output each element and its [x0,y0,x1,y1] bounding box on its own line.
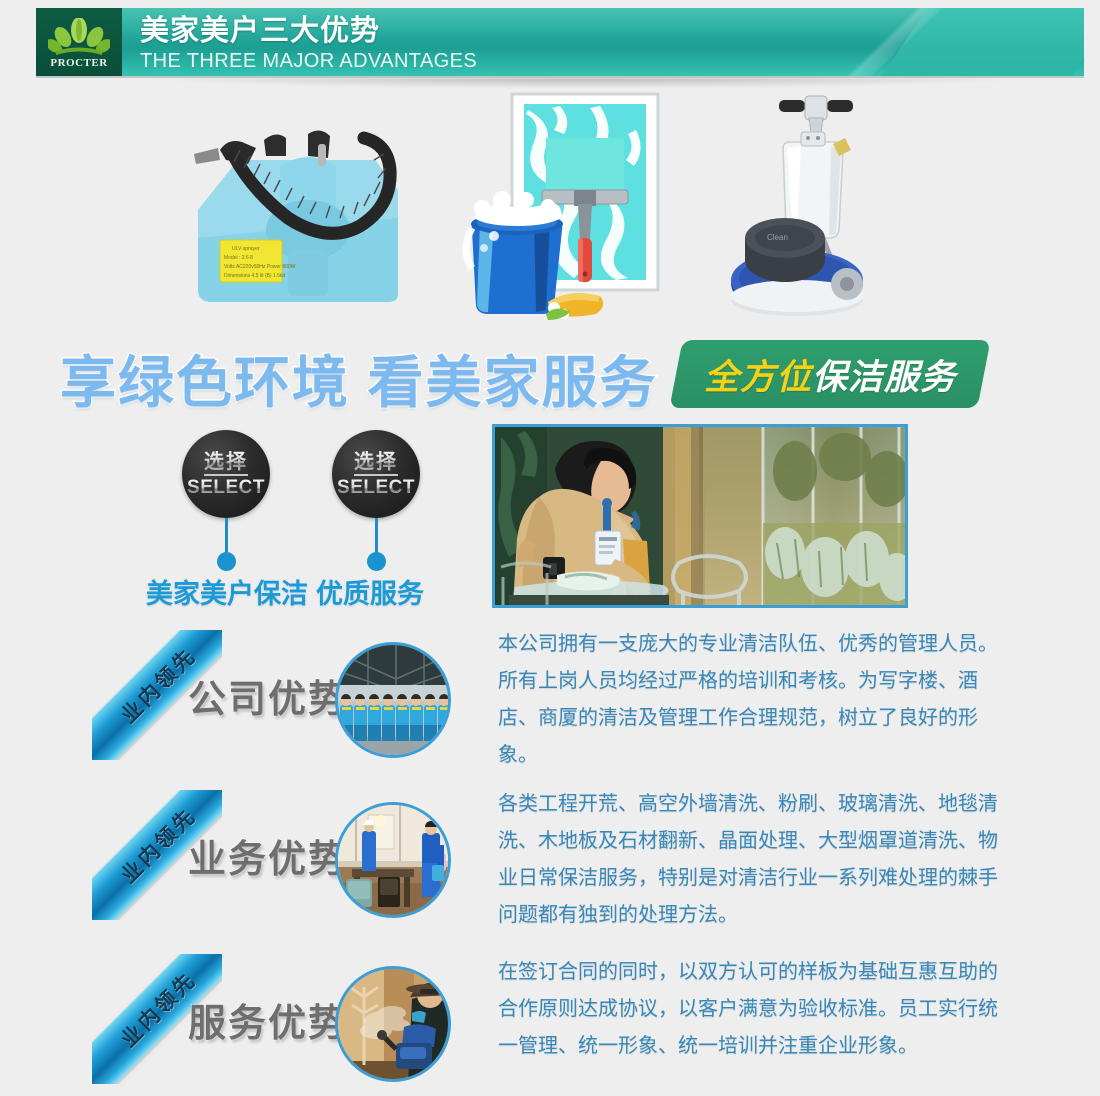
banner-title-group: 美家美户三大优势 THE THREE MAJOR ADVANTAGES [140,14,477,74]
hero-photo-cleaner-at-work [492,424,908,608]
select-circle: 选择 SELECT [332,430,420,518]
svg-text:Volts AC220v50Hz Power 800W: Volts AC220v50Hz Power 800W [224,264,296,270]
select-circle: 选择 SELECT [182,430,270,518]
select-circle-cn: 选择 [354,451,398,476]
advantage-title-company: 公司优势 [188,668,348,723]
advantage-thumb-spraying [335,966,451,1082]
header-banner: PROCTER 美家美户三大优势 THE THREE MAJOR ADVANTA… [36,8,1084,80]
product-image-window-kit [450,90,700,325]
select-circle-cn: 选择 [204,451,248,476]
select-connector-dot [367,552,386,571]
select-circle-en: SELECT [337,478,415,498]
advantage-title-business: 业务优势 [188,828,348,883]
advantage-thumb-team [335,642,451,758]
select-connector-dot [217,552,236,571]
product-image-floor-polisher: Clean [705,88,915,328]
all-round-service-badge: 全方位保洁服务 [669,340,990,408]
advantage-text-service: 在签订合同的同时，以双方认可的样板为基础互惠互助的合作原则达成协议，以客户满意为… [498,954,1010,1065]
advantage-title-service: 服务优势 [188,992,348,1047]
logo-wordmark: PROCTER [50,57,107,69]
badge-rest-text: 保洁服务 [812,349,956,400]
page-root: PROCTER 美家美户三大优势 THE THREE MAJOR ADVANTA… [0,0,1100,1096]
advantage-text-business: 各类工程开荒、高空外墙清洗、粉刷、玻璃清洗、地毯清洗、木地板及石材翻新、晶面处理… [498,786,1010,934]
banner-bar: PROCTER 美家美户三大优势 THE THREE MAJOR ADVANTA… [36,8,1084,78]
badge-highlight-text: 全方位 [704,349,812,400]
product-image-row: ULV sprayer Model : 2 6 8 Volts AC220v50… [0,86,1100,336]
select-badge-2[interactable]: 选择 SELECT [332,430,420,518]
svg-text:Model : 2 6 8: Model : 2 6 8 [224,255,253,261]
svg-text:Dimensions 4.5 lit (B) 1.: Dimensions 4.5 lit (B) 1.5kd [224,273,285,279]
select-connector-line [225,518,228,556]
select-connector-line [375,518,378,556]
brand-logo[interactable]: PROCTER [36,8,122,78]
banner-title-en: THE THREE MAJOR ADVANTAGES [140,48,477,74]
main-slogan: 享绿色环境 看美家服务 [60,338,658,419]
product-image-ulv-sprayer: ULV sprayer Model : 2 6 8 Volts AC220v50… [160,98,450,328]
advantage-text-company: 本公司拥有一支庞大的专业清洁队伍、优秀的管理人员。所有上岗人员均经过严格的培训和… [498,626,1010,774]
select-label-2: 优质服务 [316,572,424,611]
advantage-thumb-restaurant [335,802,451,918]
select-label-1: 美家美户保洁 [146,572,308,611]
banner-title-cn: 美家美户三大优势 [140,14,477,48]
badge-inner: 全方位保洁服务 [676,340,984,408]
svg-text:Clean: Clean [767,233,788,242]
select-badge-1[interactable]: 选择 SELECT [182,430,270,518]
svg-text:ULV sprayer: ULV sprayer [232,246,260,252]
select-circle-en: SELECT [187,478,265,498]
leaf-crown-icon [48,18,110,60]
